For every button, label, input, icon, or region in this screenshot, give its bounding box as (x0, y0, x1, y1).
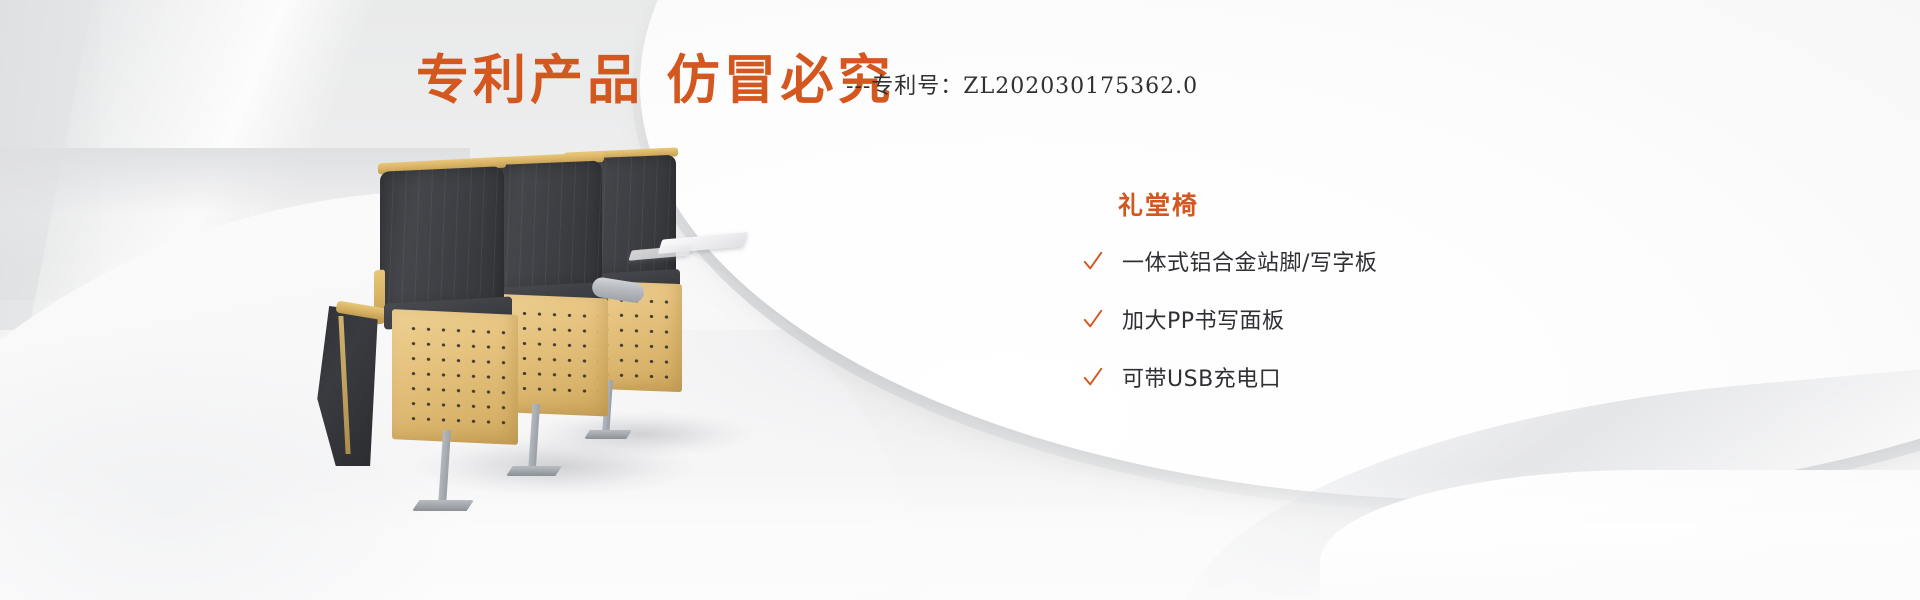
check-icon (1082, 366, 1104, 388)
check-icon (1082, 250, 1104, 272)
chair-foot (506, 466, 562, 476)
product-image-auditorium-chairs (330, 130, 770, 490)
chair-panel-perforations (404, 319, 508, 433)
banner-stage: 专利产品 仿冒必究 ---专利号：ZL202030175362.0 礼堂椅 一体… (0, 0, 1920, 600)
chair-foot (584, 430, 632, 439)
chair-back-stitching (380, 166, 504, 310)
chair-foot (412, 500, 474, 511)
chair-front-panel (392, 309, 518, 445)
page-title: 专利产品 仿冒必究 (416, 50, 894, 112)
feature-item: 可带USB充电口 (1082, 348, 1642, 406)
check-icon (1082, 308, 1104, 330)
chair-back-cushion (380, 166, 504, 310)
feature-item: 加大PP书写面板 (1082, 290, 1642, 348)
feature-item: 一体式铝合金站脚/写字板 (1082, 232, 1642, 290)
feature-label: 加大PP书写面板 (1122, 303, 1285, 335)
patent-number-note: ---专利号：ZL202030175362.0 (846, 72, 1198, 102)
product-title: 礼堂椅 (1118, 186, 1199, 222)
feature-label: 一体式铝合金站脚/写字板 (1122, 245, 1377, 277)
feature-list: 一体式铝合金站脚/写字板 加大PP书写面板 可带USB充电口 (1082, 232, 1642, 406)
feature-label: 可带USB充电口 (1122, 361, 1281, 393)
